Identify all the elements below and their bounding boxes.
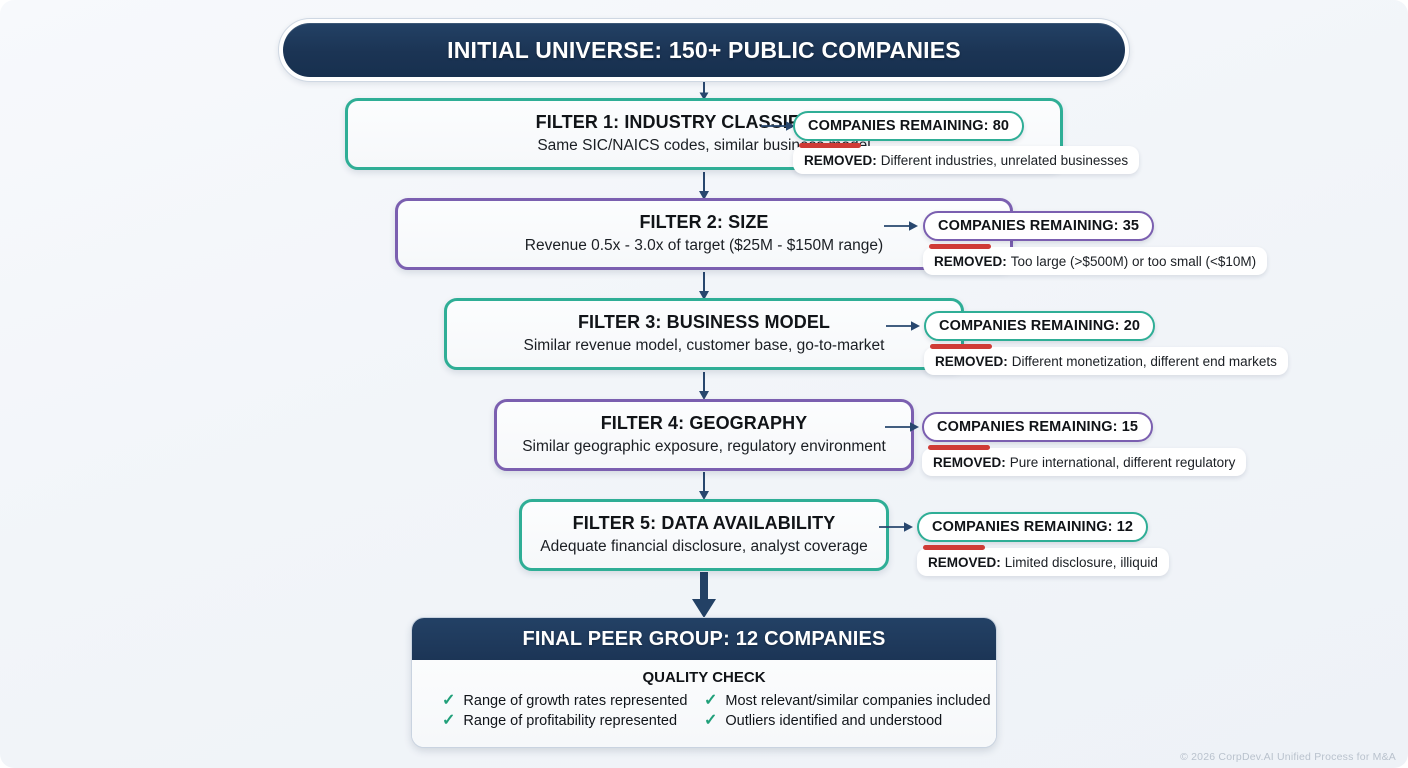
removed-note-5: REMOVED: Limited disclosure, illiquid [917,548,1169,576]
companies-remaining-label-4: COMPANIES REMAINING: 15 [937,419,1138,435]
filter-box-3-title: FILTER 3: BUSINESS MODEL [578,312,830,333]
removed-label-2: REMOVED: [934,254,1007,269]
quality-check-item-label: Range of growth rates represented [463,693,687,709]
filter-box-3-subtitle: Similar revenue model, customer base, go… [524,336,885,356]
final-peer-group-box: FINAL PEER GROUP: 12 COMPANIES QUALITY C… [411,617,997,748]
quality-check-item-label: Range of profitability represented [463,713,677,729]
removed-text-1: Different industries, unrelated business… [881,153,1128,168]
companies-remaining-label-5: COMPANIES REMAINING: 12 [932,519,1133,535]
filter-box-4[interactable]: FILTER 4: GEOGRAPHY Similar geographic e… [494,399,914,471]
quality-check-item: ✓ Range of profitability represented [442,713,704,729]
removed-note-2: REMOVED: Too large (>$500M) or too small… [923,247,1267,275]
initial-universe-banner: INITIAL UNIVERSE: 150+ PUBLIC COMPANIES [278,18,1130,82]
companies-remaining-label-2: COMPANIES REMAINING: 35 [938,218,1139,234]
companies-remaining-label-1: COMPANIES REMAINING: 80 [808,118,1009,134]
connector-filter1-to-filter2 [690,172,718,200]
companies-remaining-pill-4[interactable]: COMPANIES REMAINING: 15 [922,412,1153,442]
companies-remaining-label-3: COMPANIES REMAINING: 20 [939,318,1140,334]
removed-text-3: Different monetization, different end ma… [1012,354,1277,369]
companies-remaining-pill-2[interactable]: COMPANIES REMAINING: 35 [923,211,1154,241]
removed-text-2: Too large (>$500M) or too small (<$10M) [1011,254,1256,269]
removed-note-4: REMOVED: Pure international, different r… [922,448,1246,476]
companies-remaining-pill-3[interactable]: COMPANIES REMAINING: 20 [924,311,1155,341]
removed-note-1: REMOVED: Different industries, unrelated… [793,146,1139,174]
companies-remaining-pill-1[interactable]: COMPANIES REMAINING: 80 [793,111,1024,141]
removed-note-3: REMOVED: Different monetization, differe… [924,347,1288,375]
filter-box-5[interactable]: FILTER 5: DATA AVAILABILITY Adequate fin… [519,499,889,571]
checkmark-icon: ✓ [442,713,455,729]
filter-box-2[interactable]: FILTER 2: SIZE Revenue 0.5x - 3.0x of ta… [395,198,1013,270]
removed-accent-bar-3 [930,344,992,349]
final-peer-group-title: FINAL PEER GROUP: 12 COMPANIES [522,628,885,651]
filter-box-4-subtitle: Similar geographic exposure, regulatory … [522,437,886,457]
removed-accent-bar-2 [929,244,991,249]
removed-accent-bar-1 [799,143,861,148]
quality-check-title: QUALITY CHECK [412,669,996,686]
companies-remaining-pill-5[interactable]: COMPANIES REMAINING: 12 [917,512,1148,542]
connector-filter2-to-filter3 [690,272,718,300]
filter-box-4-title: FILTER 4: GEOGRAPHY [601,413,808,434]
checkmark-icon: ✓ [704,693,717,709]
removed-label-1: REMOVED: [804,153,877,168]
final-peer-group-body: QUALITY CHECK ✓ Range of growth rates re… [412,660,996,747]
checkmark-icon: ✓ [442,693,455,709]
quality-check-item: ✓ Outliers identified and understood [704,713,996,729]
final-peer-group-header: FINAL PEER GROUP: 12 COMPANIES [412,618,996,660]
copyright-footer: © 2026 CorpDev.AI Unified Process for M&… [1180,751,1396,763]
connector-filter4-to-filter5 [690,472,718,500]
funnel-diagram-canvas: INITIAL UNIVERSE: 150+ PUBLIC COMPANIES … [0,0,1408,768]
filter-box-5-title: FILTER 5: DATA AVAILABILITY [573,513,836,534]
connector-filter5-to-final [684,572,724,620]
quality-check-item-label: Most relevant/similar companies included [725,693,990,709]
filter-box-2-subtitle: Revenue 0.5x - 3.0x of target ($25M - $1… [525,236,883,256]
initial-universe-title: INITIAL UNIVERSE: 150+ PUBLIC COMPANIES [447,37,961,64]
removed-label-4: REMOVED: [933,455,1006,470]
removed-text-5: Limited disclosure, illiquid [1005,555,1158,570]
filter-box-3[interactable]: FILTER 3: BUSINESS MODEL Similar revenue… [444,298,964,370]
removed-label-5: REMOVED: [928,555,1001,570]
initial-universe-banner-inner: INITIAL UNIVERSE: 150+ PUBLIC COMPANIES [283,23,1125,77]
connector-filter3-to-filter4 [690,372,718,400]
removed-text-4: Pure international, different regulatory [1010,455,1236,470]
checkmark-icon: ✓ [704,713,717,729]
quality-check-list: ✓ Range of growth rates represented ✓ Mo… [412,693,996,729]
filter-box-2-title: FILTER 2: SIZE [639,212,768,233]
quality-check-item-label: Outliers identified and understood [725,713,942,729]
removed-accent-bar-5 [923,545,985,550]
removed-accent-bar-4 [928,445,990,450]
removed-label-3: REMOVED: [935,354,1008,369]
quality-check-item: ✓ Most relevant/similar companies includ… [704,693,996,709]
quality-check-item: ✓ Range of growth rates represented [442,693,704,709]
filter-box-5-subtitle: Adequate financial disclosure, analyst c… [540,537,867,557]
